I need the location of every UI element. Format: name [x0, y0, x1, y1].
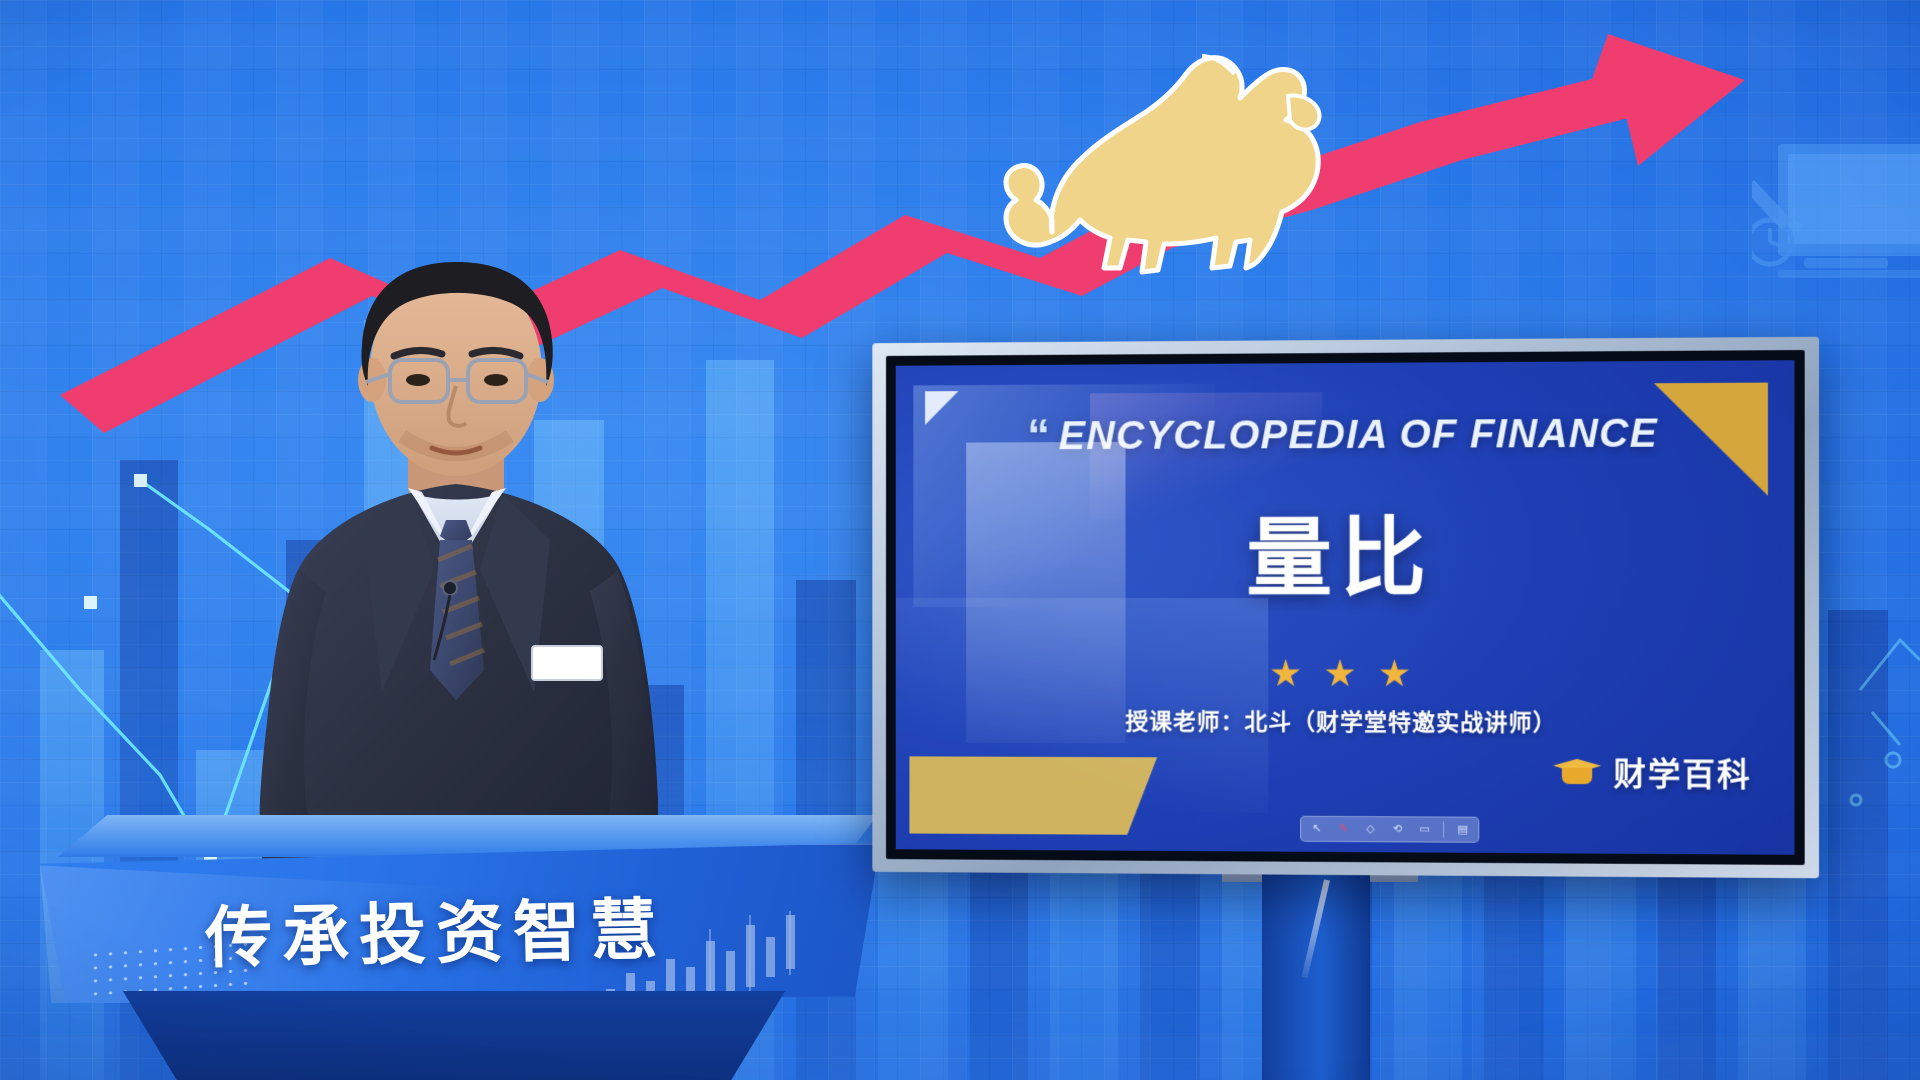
annotation-toolbar[interactable]: ↖ ✎ ◇ ⟲ ▭ ▤	[1300, 816, 1479, 843]
slide-english-title-text: ENCYCLOPEDIA OF FINANCE	[1059, 411, 1658, 458]
presentation-display[interactable]: “ENCYCLOPEDIA OF FINANCE 量比 授课老师：北斗（财学堂特…	[872, 337, 1819, 879]
slide-instructor-line: 授课老师：北斗（财学堂特邀实战讲师）	[896, 702, 1795, 739]
toolbar-separator	[1443, 822, 1444, 838]
slide-canvas[interactable]: “ENCYCLOPEDIA OF FINANCE 量比 授课老师：北斗（财学堂特…	[896, 360, 1795, 855]
slide-english-title: “ENCYCLOPEDIA OF FINANCE	[896, 405, 1795, 463]
star-icon	[1271, 659, 1301, 689]
quote-mark-icon: “	[1027, 409, 1051, 461]
eraser-tool-icon[interactable]: ◇	[1360, 820, 1381, 838]
name-badge	[532, 646, 602, 680]
cursor-tool-icon[interactable]: ↖	[1306, 820, 1327, 838]
display-inner-frame: “ENCYCLOPEDIA OF FINANCE 量比 授课老师：北斗（财学堂特…	[886, 350, 1805, 865]
monitor-decor-icon	[1752, 138, 1920, 286]
studio-scene: 传承投资智慧 “ENCYCLOPEDIA OF FINANCE 量比	[0, 0, 1920, 1080]
tv-stand-column	[1262, 872, 1370, 1080]
star-icon	[1325, 659, 1355, 689]
brand-logo: 财学百科	[1553, 749, 1752, 796]
save-tool-icon[interactable]: ▤	[1452, 821, 1473, 839]
slide-main-title: 量比	[896, 487, 1795, 613]
star-icon	[1379, 659, 1409, 689]
presenter-head	[358, 262, 554, 476]
shape-tool-icon[interactable]: ▭	[1414, 820, 1435, 838]
slide-corner-parallelogram-bottom-left	[909, 756, 1157, 835]
podium-slogan: 传承投资智慧	[204, 876, 668, 982]
brand-logo-text: 财学百科	[1613, 749, 1751, 796]
undo-tool-icon[interactable]: ⟲	[1387, 820, 1408, 838]
pen-tool-icon[interactable]: ✎	[1333, 820, 1354, 838]
podium-base	[94, 991, 814, 1080]
slide-star-rating	[896, 658, 1795, 695]
graduation-cap-icon	[1553, 755, 1602, 789]
display-bezel: “ENCYCLOPEDIA OF FINANCE 量比 授课老师：北斗（财学堂特…	[872, 337, 1819, 879]
